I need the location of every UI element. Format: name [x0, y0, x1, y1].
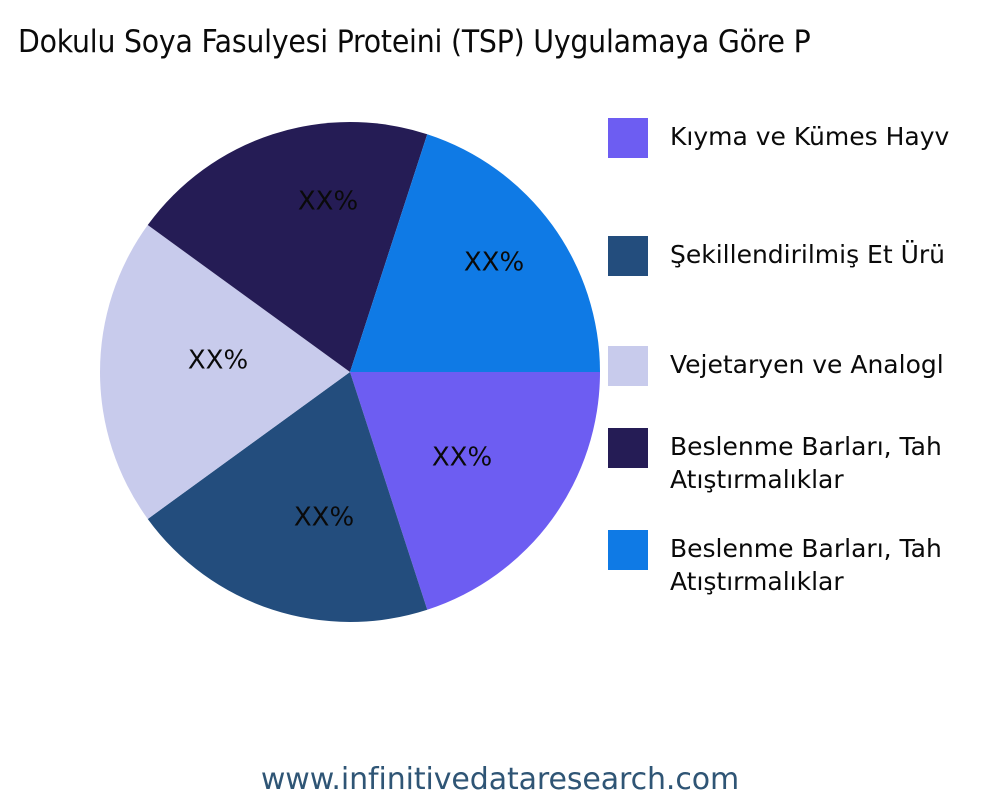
pie-slice-percent-label: XX% [298, 187, 358, 217]
pie-svg: XX%XX%XX%XX%XX% [0, 0, 620, 700]
pie-slice-percent-label: XX% [432, 443, 492, 473]
legend-item-label: Beslenme Barları, Tah Atıştırmalıklar [670, 530, 942, 598]
legend-color-swatch-icon [608, 118, 648, 158]
legend-item[interactable]: Beslenme Barları, Tah Atıştırmalıklar [608, 530, 1000, 598]
legend-item[interactable]: Beslenme Barları, Tah Atıştırmalıklar [608, 428, 1000, 496]
pie-slice-percent-label: XX% [464, 248, 524, 278]
legend-item[interactable]: Vejetaryen ve Analogl [608, 346, 1000, 386]
legend-color-swatch-icon [608, 236, 648, 276]
footer-website-url[interactable]: www.infinitivedataresearch.com [0, 762, 1000, 797]
chart-page: Dokulu Soya Fasulyesi Proteini (TSP) Uyg… [0, 0, 1000, 800]
pie-slice-percent-label: XX% [188, 346, 248, 376]
legend-color-swatch-icon [608, 530, 648, 570]
pie-chart: XX%XX%XX%XX%XX% [0, 0, 620, 700]
legend-item-label: Kıyma ve Kümes Hayv [670, 118, 949, 153]
legend-item[interactable]: Kıyma ve Kümes Hayv [608, 118, 1000, 158]
legend-color-swatch-icon [608, 346, 648, 386]
legend: Kıyma ve Kümes HayvŞekillendirilmiş Et Ü… [608, 118, 1000, 618]
pie-slice-percent-label: XX% [294, 503, 354, 533]
legend-item[interactable]: Şekillendirilmiş Et Ürü [608, 236, 1000, 276]
legend-color-swatch-icon [608, 428, 648, 468]
legend-item-label: Beslenme Barları, Tah Atıştırmalıklar [670, 428, 942, 496]
legend-item-label: Şekillendirilmiş Et Ürü [670, 236, 945, 271]
legend-item-label: Vejetaryen ve Analogl [670, 346, 944, 381]
